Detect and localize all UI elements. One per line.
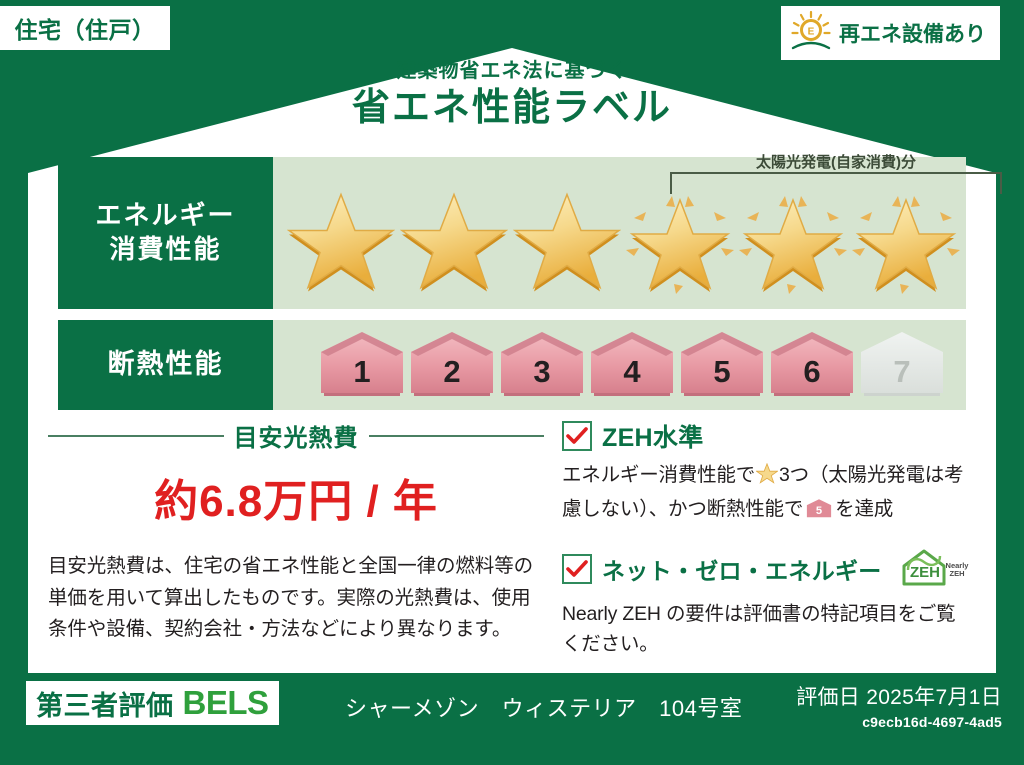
checkbox-net-zero-energy[interactable] [562,554,592,584]
star-sparkle-icon [848,188,964,296]
utility-cost-note: 目安光熱費は、住宅の省エネ性能と全国一律の燃料等の単価を用いて算出したものです。… [48,551,544,646]
bels-en-label: BELS [183,684,269,722]
insulation-label-text: 断熱性能 [108,347,224,382]
star-rating-item [398,192,509,292]
category-tag: 住宅（住戸） [0,6,170,50]
energy-performance-label: 住宅（住戸） E 再エネ設備あり 建築物省エネ法に基づ [0,0,1024,765]
criteria-net-zero-energy-title: ネット・ゼロ・エネルギー [602,552,882,586]
insulation-panel-content: 1 2 3 [273,320,966,410]
insulation-panel-label: 断熱性能 [58,320,273,410]
svg-text:ZEH: ZEH [910,564,940,581]
heading-rule-right [369,435,545,437]
bels-badge: 第三者評価 BELS [26,681,279,725]
star-rating-item-solar [850,192,961,292]
criteria-zeh-standard-body: エネルギー消費性能で3つ（太陽光発電は考慮しない）、かつ断熱性能で5を達成 [562,460,972,530]
heading-rule-left [48,435,224,437]
inline-star-icon [756,467,778,489]
zeh-logo-icon: ZEH Nearly ZEH [898,546,972,593]
energy-consumption-panel: エネルギー 消費性能 太陽光発電(自家消費)分 [58,157,966,309]
checkbox-zeh-standard[interactable] [562,421,592,451]
label-title: 建築物省エネ法に基づく 省エネ性能ラベル [0,60,1024,133]
star-icon [400,191,508,294]
renewable-equipment-badge: E 再エネ設備あり [781,6,1000,60]
star-rating-item-solar [624,192,735,292]
star-icon [287,191,395,294]
label-footer: 第三者評価 BELS シャーメゾン ウィステリア 104号室 評価日 2025年… [0,673,1024,765]
insulation-level-number: 7 [858,354,946,390]
criteria-body-post: を達成 [835,498,893,520]
insulation-level-number: 4 [588,354,676,390]
insulation-level-item: 4 [588,330,676,400]
energy-label-line2: 消費性能 [109,233,221,267]
criteria-zeh-standard-head: ZEH水準 [562,418,972,454]
star-icon [513,191,621,294]
insulation-level-number: 6 [768,354,856,390]
insulation-level-scale: 1 2 3 [318,330,946,400]
insulation-level-number: 3 [498,354,586,390]
check-icon [566,560,588,578]
solar-caption: 太陽光発電(自家消費)分 [670,151,1002,172]
criteria-net-zero-energy-body: Nearly ZEH の要件は評価書の特記項目をご覧ください。 [562,599,972,661]
insulation-level-item: 5 [678,330,766,400]
energy-panel-content: 太陽光発電(自家消費)分 [273,157,966,309]
star-rating-item-solar [737,192,848,292]
utility-cost-section: 目安光熱費 約6.8万円 / 年 目安光熱費は、住宅の省エネ性能と全国一律の燃料… [48,418,544,646]
svg-text:5: 5 [816,505,822,517]
insulation-level-number: 1 [318,354,406,390]
star-rating-item [511,192,622,292]
utility-cost-heading: 目安光熱費 [48,418,544,453]
insulation-level-number: 5 [678,354,766,390]
check-icon [566,427,588,445]
star-sparkle-icon [622,188,738,296]
criteria-net-zero-energy: ネット・ゼロ・エネルギー ZEH Nearly ZEH Nearly ZEH の… [562,546,972,661]
utility-cost-value: 約6.8万円 / 年 [48,465,544,529]
criteria-zeh-standard: ZEH水準 エネルギー消費性能で3つ（太陽光発電は考慮しない）、かつ断熱性能で5… [562,418,972,530]
energy-label-line1: エネルギー [95,199,235,233]
bels-jp-label: 第三者評価 [36,684,174,723]
evaluation-date: 評価日 2025年7月1日 [796,681,1002,711]
insulation-level-item-inactive: 7 [858,330,946,400]
inline-house-badge: 5 [806,503,832,525]
insulation-performance-panel: 断熱性能 [58,320,966,410]
insulation-level-item: 3 [498,330,586,400]
utility-cost-label: 目安光熱費 [234,418,359,453]
property-name: シャーメゾン ウィステリア 104号室 [345,691,742,723]
insulation-level-item: 1 [318,330,406,400]
category-tag-label: 住宅（住戸） [15,11,156,45]
svg-text:ZEH: ZEH [949,569,964,578]
svg-text:E: E [808,26,815,37]
title-subtitle: 建築物省エネ法に基づく [0,60,1024,83]
criteria-zeh-standard-title: ZEH水準 [602,418,704,454]
criteria-section: ZEH水準 エネルギー消費性能で3つ（太陽光発電は考慮しない）、かつ断熱性能で5… [562,418,972,676]
criteria-net-zero-energy-head: ネット・ゼロ・エネルギー ZEH Nearly ZEH [562,546,972,593]
sun-icon: E [789,10,833,57]
star-sparkle-icon [735,188,851,296]
insulation-level-item: 2 [408,330,496,400]
renewable-badge-label: 再エネ設備あり [839,18,986,48]
insulation-level-number: 2 [408,354,496,390]
star-rating-item [285,192,396,292]
energy-panel-label: エネルギー 消費性能 [58,157,273,309]
insulation-level-item: 6 [768,330,856,400]
title-main: 省エネ性能ラベル [0,85,1024,133]
energy-star-rating [273,192,966,292]
evaluation-id: c9ecb16d-4697-4ad5 [796,714,1002,730]
evaluation-info: 評価日 2025年7月1日 c9ecb16d-4697-4ad5 [796,681,1002,730]
criteria-body-pre: エネルギー消費性能で [562,464,755,486]
